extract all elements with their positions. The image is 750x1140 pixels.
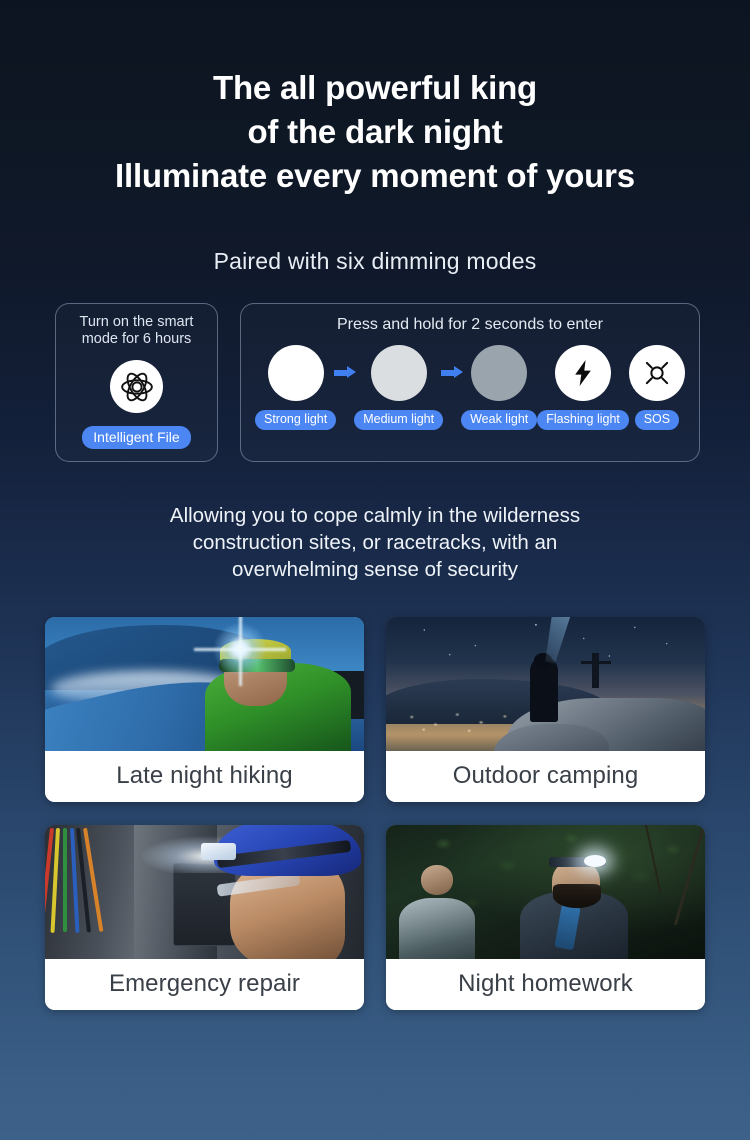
dimming-modes-row: Turn on the smart mode for 6 hours Intel…	[0, 303, 750, 462]
press-hold-caption: Press and hold for 2 seconds to enter	[255, 316, 685, 334]
hiker-snow-mountain-photo	[45, 617, 364, 751]
mode-item-strong-light[interactable]: Strong light	[255, 345, 336, 430]
mode-label: Strong light	[255, 410, 336, 430]
body-copy-line-3: overwhelming sense of security	[90, 556, 660, 583]
solid-disc-icon	[268, 345, 324, 401]
scenario-card-label: Outdoor camping	[386, 751, 705, 802]
intelligent-file-badge[interactable]: Intelligent File	[82, 426, 190, 449]
night-peak-silhouette-photo	[386, 617, 705, 751]
smart-mode-caption-line-1: Turn on the smart	[80, 314, 194, 332]
mode-label: Flashing light	[537, 410, 629, 430]
mode-list: Strong light Medium light Weak light Fla…	[255, 345, 685, 448]
mode-item-medium-light[interactable]: Medium light	[354, 345, 443, 430]
scenario-card-label: Night homework	[386, 959, 705, 1010]
body-copy: Allowing you to cope calmly in the wilde…	[0, 502, 750, 583]
mode-label: Medium light	[354, 410, 443, 430]
forest-couple-headlamp-photo	[386, 825, 705, 959]
hero-line-1: The all powerful king	[0, 66, 750, 110]
body-copy-line-2: construction sites, or racetracks, with …	[90, 529, 660, 556]
lightning-bolt-icon	[555, 345, 611, 401]
scenario-card-emergency-repair[interactable]: Emergency repair	[45, 825, 364, 1010]
mode-label: Weak light	[461, 410, 537, 430]
arrow-right-icon-1	[334, 345, 356, 401]
scenario-card-outdoor-camping[interactable]: Outdoor camping	[386, 617, 705, 802]
mode-item-weak-light[interactable]: Weak light	[461, 345, 537, 430]
mode-cycle-panel: Press and hold for 2 seconds to enter St…	[240, 303, 700, 462]
scenario-card-night-homework[interactable]: Night homework	[386, 825, 705, 1010]
arrow-right-icon-2	[441, 345, 463, 401]
solid-disc-icon	[471, 345, 527, 401]
mode-item-flashing-light[interactable]: Flashing light	[537, 345, 629, 430]
scenario-card-label: Emergency repair	[45, 959, 364, 1010]
hero-line-2: of the dark night	[0, 110, 750, 154]
mode-item-sos[interactable]: SOS	[629, 345, 685, 430]
hero-section: The all powerful king of the dark night …	[0, 0, 750, 198]
atom-icon	[110, 360, 163, 413]
mode-label: SOS	[635, 410, 679, 430]
electrician-hardhat-photo	[45, 825, 364, 959]
scenario-card-grid: Late night hiking Outdoor camping Emerge…	[0, 617, 750, 1010]
sun-brightness-icon	[629, 345, 685, 401]
body-copy-line-1: Allowing you to cope calmly in the wilde…	[90, 502, 660, 529]
smart-mode-panel: Turn on the smart mode for 6 hours Intel…	[55, 303, 218, 462]
solid-disc-icon	[371, 345, 427, 401]
scenario-card-late-night-hiking[interactable]: Late night hiking	[45, 617, 364, 802]
modes-subtitle: Paired with six dimming modes	[0, 248, 750, 275]
scenario-card-label: Late night hiking	[45, 751, 364, 802]
hero-line-3: Illuminate every moment of yours	[0, 154, 750, 198]
smart-mode-caption-line-2: mode for 6 hours	[82, 331, 192, 349]
